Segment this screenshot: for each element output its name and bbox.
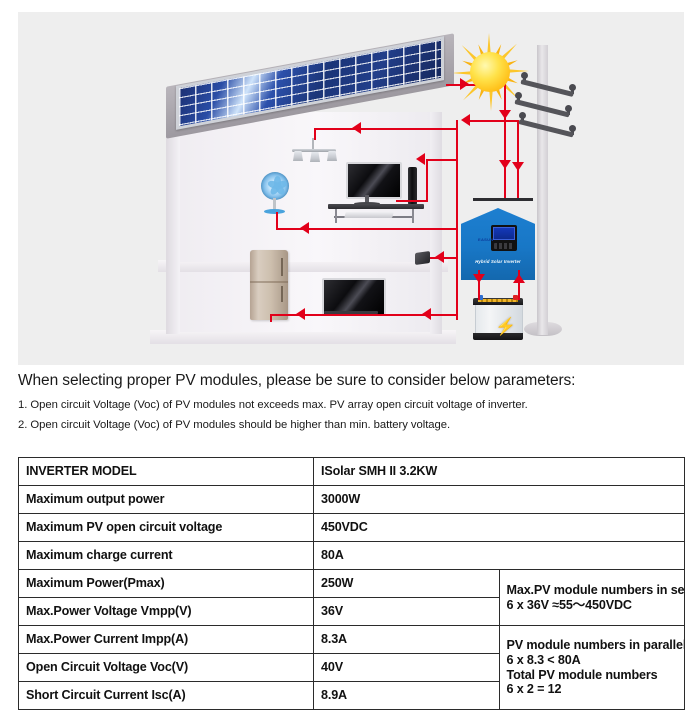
table-row-model: INVERTER MODEL ISolar SMH II 3.2KW xyxy=(19,458,685,486)
monitor-icon xyxy=(346,162,402,199)
note-series-calc: 6 x 36V ≈55～450VDC xyxy=(507,598,632,612)
cell-label: Max.Power Voltage Vmpp(V) xyxy=(19,598,314,626)
house-ground-floor xyxy=(150,330,456,344)
arrow-left-icon xyxy=(352,122,361,134)
cell-value: 80A xyxy=(314,542,685,570)
fan-base xyxy=(264,209,285,214)
cell-label: Maximum charge current xyxy=(19,542,314,570)
inverter-brand-logo: EASUN xyxy=(478,237,494,242)
battery-icon: ⚡ xyxy=(473,298,523,340)
arrow-down-icon xyxy=(473,274,485,283)
system-diagram-illustration: EASUN Hybrid Solar Inverter ⚡ xyxy=(18,12,684,365)
cell-note-series: Max.PV module numbers in senes 6 x 36V ≈… xyxy=(499,570,685,626)
insulator-icon xyxy=(519,112,526,119)
note-series-title: Max.PV module numbers in senes xyxy=(507,583,685,597)
house-right-pillar xyxy=(430,112,442,334)
inverter-spec-table: INVERTER MODEL ISolar SMH II 3.2KW Maxim… xyxy=(18,457,685,710)
table-row: Maximum output power 3000W xyxy=(19,486,685,514)
arrow-right-icon xyxy=(460,78,469,90)
ceiling-lamp-icon xyxy=(293,151,303,161)
wire-to-lamp xyxy=(314,128,456,130)
inverter-top-bar xyxy=(473,198,533,201)
keyboard-icon xyxy=(344,212,394,218)
cell-value: 450VDC xyxy=(314,514,685,542)
cell-value: 36V xyxy=(314,598,500,626)
wire-grid-down xyxy=(517,120,519,200)
note-total-calc: 6 x 2 = 12 xyxy=(507,682,562,696)
wire-monitor-feed xyxy=(396,200,428,202)
table-row: Max.Power Current Impp(A) 8.3A PV module… xyxy=(19,626,685,654)
cell-value: 8.9A xyxy=(314,682,500,710)
insulator-icon xyxy=(569,84,576,91)
house-left-pillar xyxy=(166,112,180,334)
wire-fridge-drop xyxy=(270,314,272,322)
cell-value-model: ISolar SMH II 3.2KW xyxy=(314,458,685,486)
table-row: Maximum PV open circuit voltage 450VDC xyxy=(19,514,685,542)
wire-grid-in xyxy=(470,120,517,122)
wire-lamp-drop xyxy=(314,128,316,140)
cell-label: Short Circuit Current Isc(A) xyxy=(19,682,314,710)
arrow-left-icon xyxy=(300,222,309,234)
inverter-label: Hybrid Solar Inverter xyxy=(461,259,535,264)
desk-top xyxy=(328,204,424,209)
insulator-icon xyxy=(515,92,522,99)
cell-label: Maximum Power(Pmax) xyxy=(19,570,314,598)
cell-label: Maximum output power xyxy=(19,486,314,514)
inverter-lcd-display xyxy=(491,225,517,251)
arrow-down-icon xyxy=(499,160,511,169)
intro-text-block: When selecting proper PV modules, please… xyxy=(18,372,688,439)
table-row: Maximum Power(Pmax) 250W Max.PV module n… xyxy=(19,570,685,598)
table-row: Maximum charge current 80A xyxy=(19,542,685,570)
cell-note-parallel: PV module numbers in parallel 6 x 8.3 < … xyxy=(499,626,685,710)
desk-leg xyxy=(412,209,414,223)
arrow-down-icon xyxy=(499,110,511,119)
fan-icon xyxy=(261,172,289,200)
wire-to-monitor xyxy=(426,159,458,161)
note-parallel-calc: 6 x 8.3 < 80A xyxy=(507,653,581,667)
cell-label-model: INVERTER MODEL xyxy=(19,458,314,486)
cell-value: 8.3A xyxy=(314,626,500,654)
refrigerator-icon xyxy=(250,250,288,320)
insulator-icon xyxy=(521,72,528,79)
cell-value: 40V xyxy=(314,654,500,682)
wall-junction-box-icon xyxy=(415,251,430,265)
ceiling-lamp-icon xyxy=(310,152,320,162)
cell-label: Max.Power Current Impp(A) xyxy=(19,626,314,654)
cell-label: Open Circuit Voltage Voc(V) xyxy=(19,654,314,682)
arrow-down-icon xyxy=(512,162,524,171)
wire-pv-down xyxy=(504,84,506,199)
arrow-left-icon xyxy=(296,308,305,320)
cell-value: 3000W xyxy=(314,486,685,514)
note-total-title: Total PV module numbers xyxy=(507,668,658,682)
intro-note-1: 1. Open circuit Voltage (Voc) of PV modu… xyxy=(18,399,688,411)
arrow-left-icon xyxy=(435,251,444,263)
wire-house-trunk xyxy=(456,120,458,320)
wire-monitor-drop xyxy=(426,159,428,202)
note-parallel-title: PV module numbers in parallel xyxy=(507,638,685,652)
intro-heading: When selecting proper PV modules, please… xyxy=(18,372,688,390)
desk-leg xyxy=(335,209,337,223)
wire-fan-drop xyxy=(276,212,278,229)
arrow-left-icon xyxy=(422,308,431,320)
arrow-left-icon xyxy=(461,114,470,126)
intro-note-2: 2. Open circuit Voltage (Voc) of PV modu… xyxy=(18,419,688,431)
arrow-left-icon xyxy=(416,153,425,165)
cell-label: Maximum PV open circuit voltage xyxy=(19,514,314,542)
ceiling-lamp-icon xyxy=(327,151,337,161)
arrow-up-icon xyxy=(513,274,525,283)
house-wall-lower xyxy=(168,272,440,332)
cell-value: 250W xyxy=(314,570,500,598)
